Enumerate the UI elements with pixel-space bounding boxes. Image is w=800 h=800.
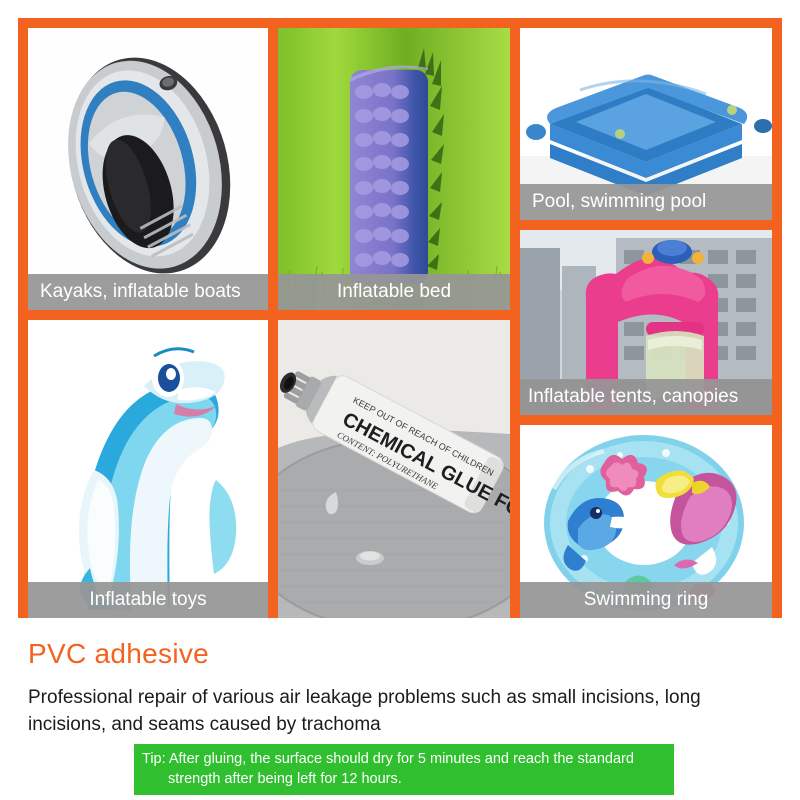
collage-cell-pool[interactable]: Pool, swimming pool [520,28,772,220]
tip-line-1: Tip: After gluing, the surface should dr… [142,751,634,767]
collage-cell-glue-tube[interactable]: KEEP OUT OF REACH OF CHILDREN CHEMICAL G… [278,320,510,618]
collage-cell-swim-ring[interactable]: Swimming ring [520,425,772,618]
collage-cell-bed[interactable]: Inflatable bed [278,28,510,310]
product-description: Professional repair of various air leaka… [28,684,728,738]
caption-kayak: Kayaks, inflatable boats [28,274,268,310]
collage-cell-toy[interactable]: Inflatable toys [28,320,268,618]
photo-collage-frame: Kayaks, inflatable boats [18,18,782,618]
caption-pool: Pool, swimming pool [520,184,772,220]
caption-tent: Inflatable tents, canopies [520,379,772,415]
caption-toy: Inflatable toys [28,582,268,618]
collage-cell-kayak[interactable]: Kayaks, inflatable boats [28,28,268,310]
caption-bed: Inflatable bed [278,274,510,310]
caption-ring: Swimming ring [520,582,772,618]
dolphin-inflatable-toy-photo [28,320,268,618]
tip-callout: Tip: After gluing, the surface should dr… [134,744,674,795]
product-infographic: Kayaks, inflatable boats [0,0,800,800]
tip-line-2: strength after being left for 12 hours. [142,769,666,789]
glue-tube-photo: KEEP OUT OF REACH OF CHILDREN CHEMICAL G… [278,320,510,618]
collage-cell-tent[interactable]: Inflatable tents, canopies [520,230,772,415]
product-title: PVC adhesive [28,638,209,670]
air-mattress-on-grass-photo [278,28,510,310]
inflatable-boat-photo [28,28,268,310]
photo-collage-grid: Kayaks, inflatable boats [28,28,772,608]
